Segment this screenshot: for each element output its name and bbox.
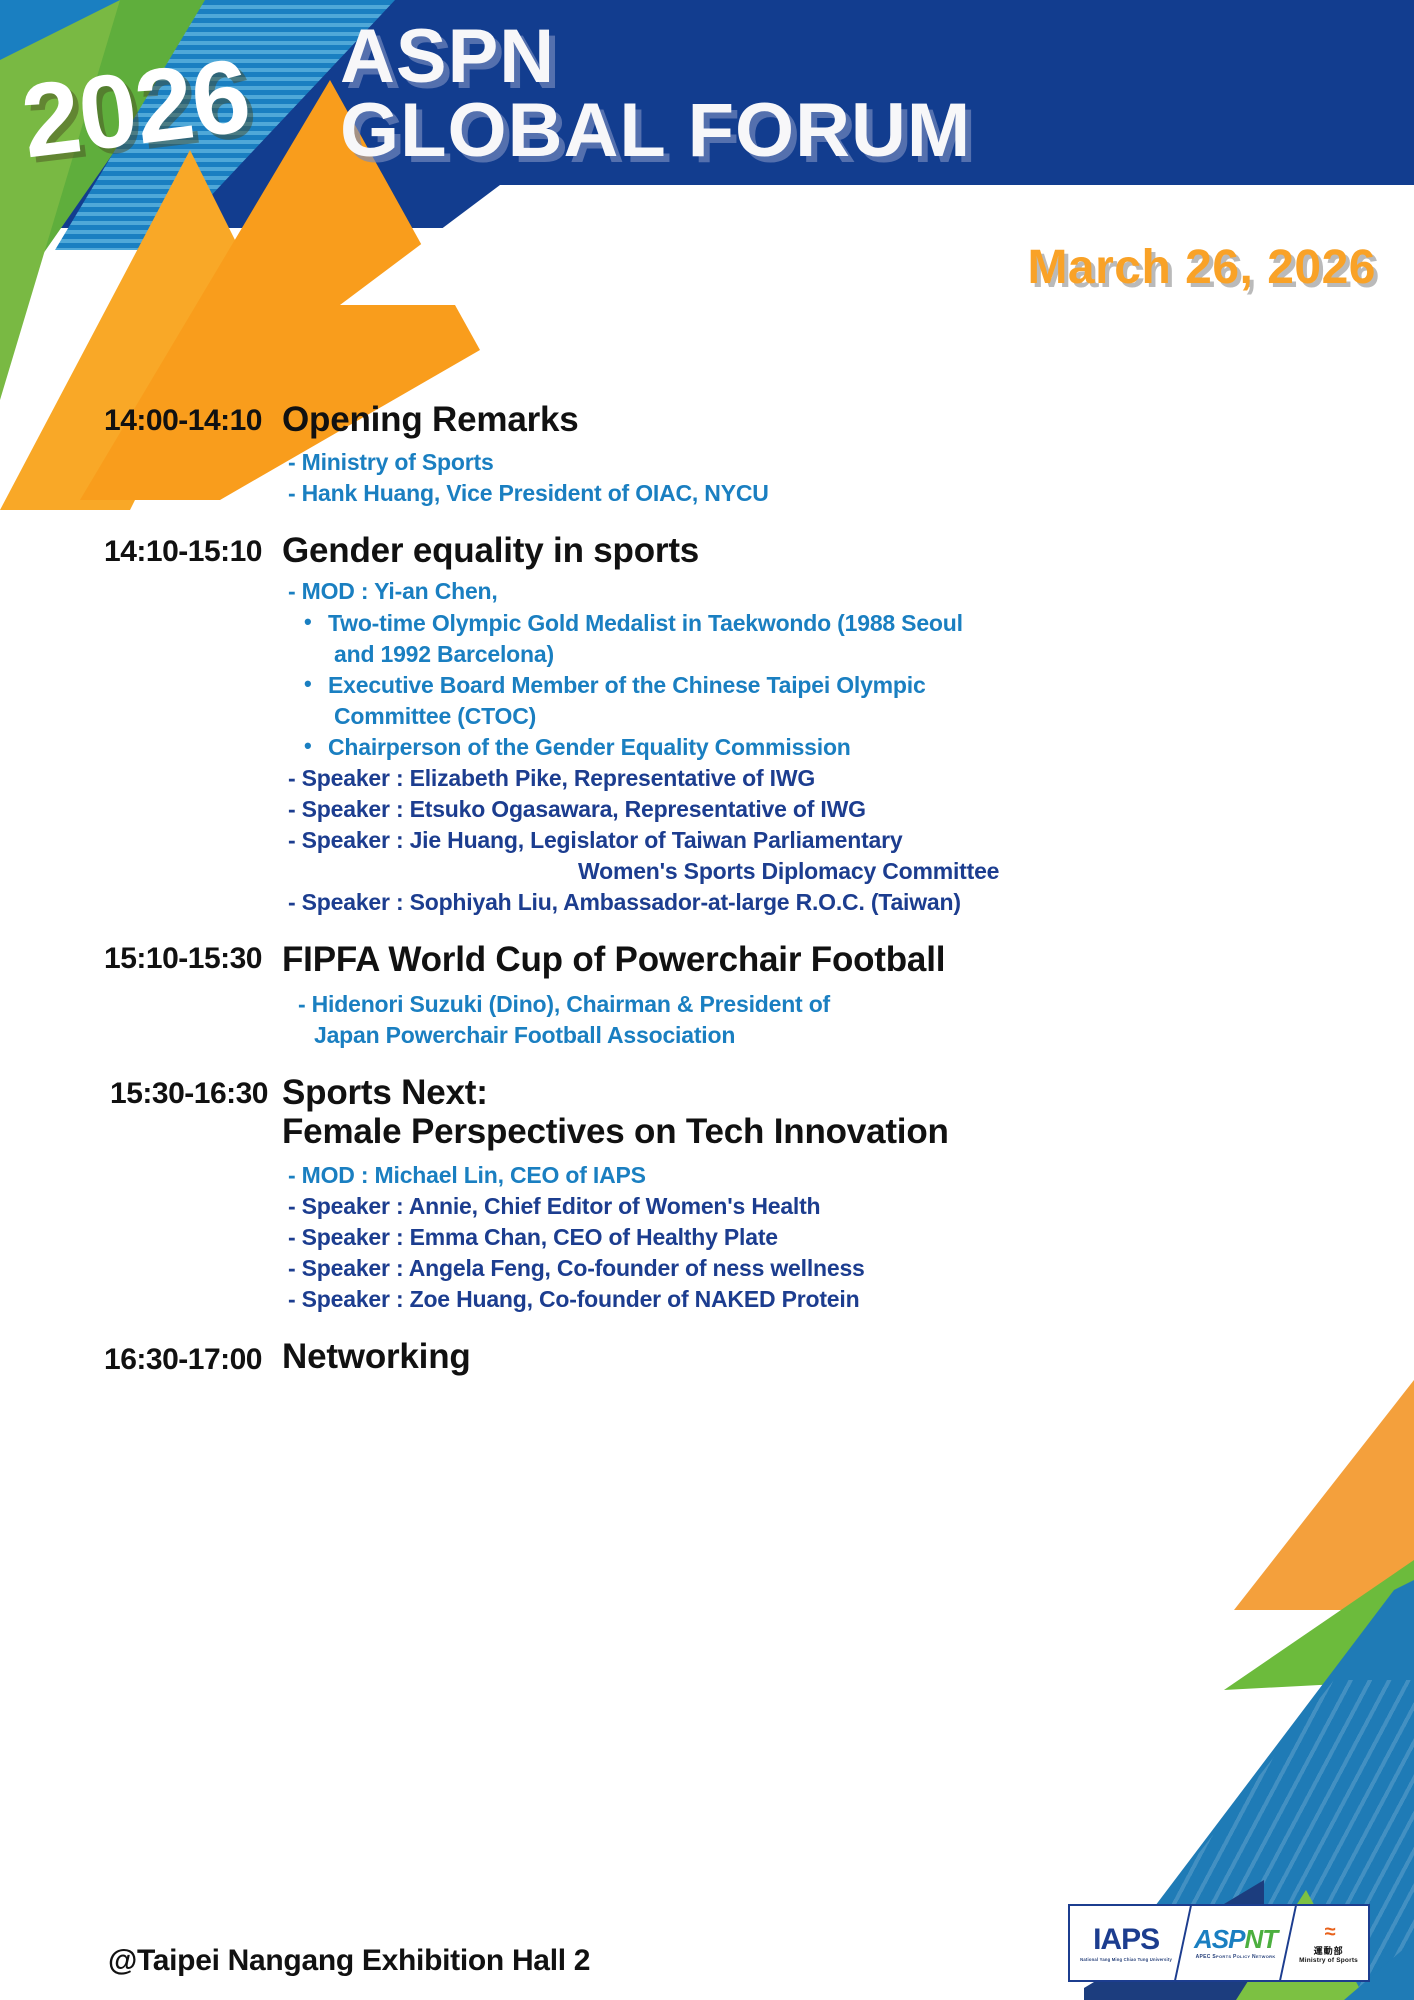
session-detail-speaker: - Speaker : Jie Huang, Legislator of Tai…: [282, 825, 1374, 856]
session-detail-speaker: - Speaker : Emma Chan, CEO of Healthy Pl…: [282, 1222, 1374, 1253]
schedule-row-gender-equality: 14:10-15:10 Gender equality in sports - …: [0, 531, 1414, 918]
session-detail-speaker-cont: Japan Powerchair Football Association: [292, 1020, 1374, 1051]
session-detail: - Ministry of Sports: [282, 447, 1374, 478]
session-time: 14:10-15:10: [50, 531, 282, 569]
event-date: March 26, 2026: [1027, 240, 1376, 295]
session-detail-speaker: - Speaker : Zoe Huang, Co-founder of NAK…: [282, 1284, 1374, 1315]
event-title-line-1: ASPN: [340, 20, 971, 94]
aspn-logo-wordmark: ASPNT: [1194, 1926, 1277, 1952]
iaps-logo: IAPS National Yang Ming Chiao Tung Unive…: [1070, 1906, 1182, 1980]
session-details: - MOD : Michael Lin, CEO of IAPS - Speak…: [282, 1160, 1374, 1315]
session-details: - MOD : Yi-an Chen, Two-time Olympic Gol…: [282, 576, 1374, 918]
session-detail-speaker-cont: Women's Sports Diplomacy Committee: [282, 856, 1374, 887]
session-detail-moderator: - MOD : Yi-an Chen,: [282, 576, 1374, 607]
schedule-row-networking: 16:30-17:00 Networking: [0, 1337, 1414, 1377]
session-subtitle: Female Perspectives on Tech Innovation: [282, 1112, 1374, 1151]
session-detail-bio: Chairperson of the Gender Equality Commi…: [282, 732, 1374, 763]
session-detail-bio-cont: and 1992 Barcelona): [282, 639, 1374, 670]
session-time: 14:00-14:10: [50, 400, 282, 438]
sponsor-logo-strip: IAPS National Yang Ming Chiao Tung Unive…: [1068, 1904, 1370, 1982]
iaps-logo-subtitle: National Yang Ming Chiao Tung University: [1080, 1957, 1172, 1962]
session-title: FIPFA World Cup of Powerchair Football: [282, 940, 1374, 979]
session-detail-bio: Executive Board Member of the Chinese Ta…: [282, 670, 1374, 701]
aspn-logo: ASPNT APEC Sports Policy Network: [1184, 1906, 1287, 1980]
session-title: Gender equality in sports: [282, 531, 1374, 570]
session-details: - Ministry of Sports - Hank Huang, Vice …: [282, 447, 1374, 509]
aspn-logo-wordmark-part-a: ASP: [1194, 1924, 1244, 1954]
aspn-logo-subtitle: APEC Sports Policy Network: [1196, 1954, 1276, 1960]
ministry-of-sports-logo: ≈ 運動部 Ministry of Sports: [1289, 1906, 1368, 1980]
ministry-of-sports-name-zh: 運動部: [1314, 1944, 1344, 1957]
iaps-logo-wordmark: IAPS: [1093, 1925, 1159, 1955]
session-body: FIPFA World Cup of Powerchair Football -…: [282, 940, 1374, 1051]
schedule-row-sports-next: 15:30-16:30 Sports Next: Female Perspect…: [0, 1073, 1414, 1315]
event-title: ASPN GLOBAL FORUM: [340, 20, 971, 169]
schedule-row-fipfa-world-cup: 15:10-15:30 FIPFA World Cup of Powerchai…: [0, 940, 1414, 1051]
session-time: 15:30-16:30: [50, 1073, 282, 1111]
session-detail-speaker: - Speaker : Sophiyah Liu, Ambassador-at-…: [282, 887, 1374, 918]
session-detail-bio-cont: Committee (CTOC): [282, 701, 1374, 732]
session-body: Gender equality in sports - MOD : Yi-an …: [282, 531, 1374, 918]
venue-label: @Taipei Nangang Exhibition Hall 2: [108, 1944, 590, 1978]
ministry-of-sports-name-en: Ministry of Sports: [1299, 1957, 1358, 1964]
ministry-of-sports-emblem-icon: ≈: [1325, 1922, 1333, 1942]
session-body: Networking: [282, 1337, 1374, 1376]
session-title: Sports Next:: [282, 1073, 1374, 1112]
schedule-row-opening-remarks: 14:00-14:10 Opening Remarks - Ministry o…: [0, 400, 1414, 509]
session-detail-moderator: - MOD : Michael Lin, CEO of IAPS: [282, 1160, 1374, 1191]
event-title-line-2: GLOBAL FORUM: [340, 94, 971, 168]
session-detail: - Hank Huang, Vice President of OIAC, NY…: [282, 478, 1374, 509]
session-detail-speaker: - Speaker : Angela Feng, Co-founder of n…: [282, 1253, 1374, 1284]
schedule-list: 14:00-14:10 Opening Remarks - Ministry o…: [0, 400, 1414, 1377]
session-body: Opening Remarks - Ministry of Sports - H…: [282, 400, 1374, 509]
session-body: Sports Next: Female Perspectives on Tech…: [282, 1073, 1374, 1315]
session-detail-bio: Two-time Olympic Gold Medalist in Taekwo…: [282, 608, 1374, 639]
session-details: - Hidenori Suzuki (Dino), Chairman & Pre…: [282, 989, 1374, 1051]
session-title: Opening Remarks: [282, 400, 1374, 439]
session-detail-speaker: - Speaker : Etsuko Ogasawara, Representa…: [282, 794, 1374, 825]
session-title: Networking: [282, 1337, 1374, 1376]
session-time: 16:30-17:00: [50, 1337, 282, 1377]
aspn-logo-wordmark-part-b: NT: [1244, 1924, 1277, 1954]
session-detail-speaker: - Speaker : Elizabeth Pike, Representati…: [282, 763, 1374, 794]
session-detail-speaker: - Speaker : Annie, Chief Editor of Women…: [282, 1191, 1374, 1222]
session-detail-speaker: - Hidenori Suzuki (Dino), Chairman & Pre…: [292, 989, 1374, 1020]
session-time: 15:10-15:30: [50, 940, 282, 976]
